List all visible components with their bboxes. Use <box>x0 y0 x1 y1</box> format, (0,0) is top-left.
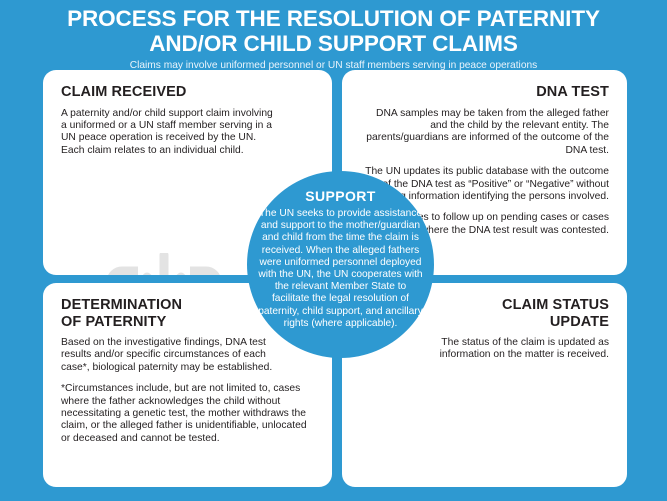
card-dna-test-title: DNA TEST <box>360 84 609 101</box>
card-determination-paragraph-2: *Circumstances include, but are not limi… <box>61 383 314 445</box>
card-claim-status-title-line-2: UPDATE <box>550 314 609 330</box>
center-support-circle: SUPPORT The UN seeks to provide assistan… <box>247 171 434 358</box>
card-claim-received-paragraph: A paternity and/or child support claim i… <box>61 108 276 158</box>
card-claim-status-update-paragraph: The status of the claim is updated as in… <box>394 337 609 362</box>
card-determination-title-line-2: OF PATERNITY <box>61 314 166 330</box>
poster-title-line-1: PROCESS FOR THE RESOLUTION OF PATERNITY <box>67 6 600 31</box>
card-dna-test-paragraph-1: DNA samples may be taken from the allege… <box>360 108 609 158</box>
poster-header: PROCESS FOR THE RESOLUTION OF PATERNITY … <box>0 0 667 70</box>
infographic-poster: PROCESS FOR THE RESOLUTION OF PATERNITY … <box>0 0 667 501</box>
card-claim-status-title-line-1: CLAIM STATUS <box>502 297 609 313</box>
poster-title-line-2: AND/OR CHILD SUPPORT CLAIMS <box>149 31 518 56</box>
card-determination-paragraph-1: Based on the investigative findings, DNA… <box>61 337 276 374</box>
poster-title: PROCESS FOR THE RESOLUTION OF PATERNITY … <box>0 6 667 56</box>
card-claim-received-title: CLAIM RECEIVED <box>61 84 314 101</box>
center-support-title: SUPPORT <box>256 188 425 204</box>
center-support-paragraph: The UN seeks to provide assistance and s… <box>256 208 425 330</box>
card-determination-title-line-1: DETERMINATION <box>61 297 182 313</box>
